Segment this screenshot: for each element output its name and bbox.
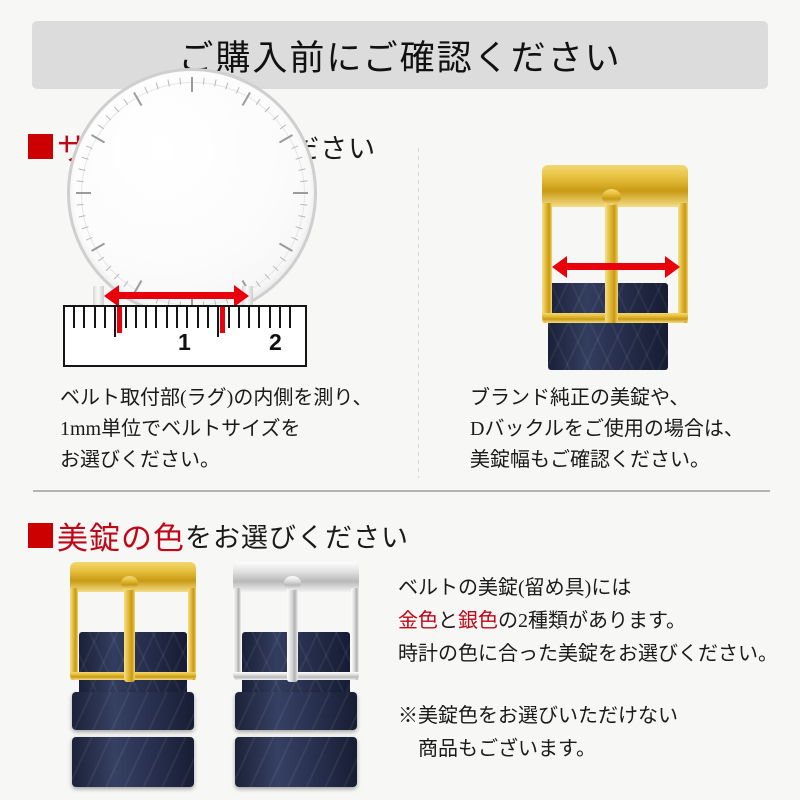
ruler-tick xyxy=(166,307,168,328)
ruler-tick xyxy=(145,307,147,328)
arrow-shaft xyxy=(566,263,666,270)
arrow-head-left-icon xyxy=(104,285,119,307)
vertical-divider xyxy=(418,148,419,478)
arrow-head-right-icon xyxy=(665,256,680,278)
conjunction: と xyxy=(438,610,458,632)
ruler-tick xyxy=(83,307,85,328)
buckle-tongue xyxy=(124,580,135,682)
ruler-tick xyxy=(73,307,75,328)
strap-keeper-loop xyxy=(235,692,357,730)
strap-keeper-loop xyxy=(72,692,194,730)
ruler-tick xyxy=(155,307,157,328)
note-line-1: ※美錠色をお選びいただけない xyxy=(398,700,678,733)
gold-buckle-width-figure xyxy=(490,165,740,370)
caption-line: お選びください。 xyxy=(60,445,373,476)
ruler-tick xyxy=(289,307,291,328)
body-line-2: 金色と銀色の2種類があります。 xyxy=(398,605,778,638)
ruler-tick xyxy=(217,307,219,337)
dial-tick xyxy=(76,192,91,194)
ruler-tick xyxy=(269,307,271,328)
caption-line: ブランド純正の美錠や、 xyxy=(470,383,744,414)
buckle-tongue-pivot xyxy=(284,576,301,590)
watch-dial xyxy=(67,68,317,318)
ruler-tick xyxy=(125,307,127,328)
ruler-tick xyxy=(248,307,250,328)
gold-buckle-strap-figure xyxy=(62,562,212,787)
strap-tail xyxy=(72,737,194,787)
buckle-arm-left xyxy=(542,203,552,323)
dial-tick xyxy=(191,77,193,92)
caption-line: ベルト取付部(ラグ)の内側を測り、 xyxy=(60,383,373,414)
section-heading-color-keyword: 美錠の色 xyxy=(57,513,185,558)
body-line-3: 時計の色に合った美錠をお選びください。 xyxy=(398,638,778,671)
dial-tick xyxy=(293,192,308,194)
ruler-tick xyxy=(135,307,137,328)
strap-tail xyxy=(235,737,357,787)
square-bullet-icon xyxy=(28,523,53,548)
buckle-tongue xyxy=(605,193,618,323)
ruler-number-2: 2 xyxy=(269,329,282,356)
watch-case-illustration xyxy=(67,68,317,318)
note-line-2: 商品もございます。 xyxy=(398,733,678,766)
body-line-2-tail: の2種類があります。 xyxy=(498,610,686,632)
buckle-color-body-text: ベルトの美錠(留め具)には 金色と銀色の2種類があります。 時計の色に合った美錠… xyxy=(398,572,778,671)
horizontal-divider xyxy=(33,490,770,492)
ruler-tick xyxy=(186,307,188,328)
ruler-tick xyxy=(228,307,230,328)
ruler-tick xyxy=(238,307,240,328)
ruler-tick xyxy=(94,307,96,328)
ruler-tick xyxy=(197,307,199,328)
buckle-arm-right xyxy=(188,588,196,680)
ruler-tick xyxy=(114,307,116,337)
caption-line: Dバックルをご使用の場合は、 xyxy=(470,414,744,445)
buckle-arm-left xyxy=(233,588,241,680)
buckle-tongue-pivot xyxy=(121,576,138,590)
dial-tick xyxy=(167,79,169,86)
buckle-arm-right xyxy=(351,588,359,680)
caption-line: 美錠幅もご確認ください。 xyxy=(470,445,744,476)
buckle-color-note: ※美錠色をお選びいただけない 商品もございます。 xyxy=(398,700,678,766)
ruler-marker-start xyxy=(117,307,122,333)
buckle-arm-left xyxy=(70,588,78,680)
dial-tick xyxy=(78,168,85,170)
dial-tick xyxy=(77,180,84,182)
ruler-number-1: 1 xyxy=(178,329,191,356)
arrow-head-right-icon xyxy=(234,285,249,307)
ruler-marker-end xyxy=(220,307,225,333)
ruler-tick xyxy=(176,307,178,328)
ruler: 1 2 xyxy=(63,305,307,367)
size-caption-right: ブランド純正の美錠や、 Dバックルをご使用の場合は、 美錠幅もご確認ください。 xyxy=(470,383,744,476)
section-heading-buckle-color: 美錠の色 をお選びください xyxy=(28,513,409,558)
ruler-tick xyxy=(279,307,281,328)
arrow-shaft xyxy=(118,292,235,299)
silver-label: 銀色 xyxy=(458,610,498,632)
watch-lug-measurement-figure: 1 2 xyxy=(40,160,390,370)
body-line-1: ベルトの美錠(留め具)には xyxy=(398,572,778,605)
gold-label: 金色 xyxy=(398,610,438,632)
watch-dial-inner-ring xyxy=(81,82,305,306)
caption-line: 1mm単位でベルトサイズを xyxy=(60,414,373,445)
buckle-tongue-pivot xyxy=(602,189,621,205)
silver-buckle-strap-figure xyxy=(225,562,375,787)
arrow-head-left-icon xyxy=(552,256,567,278)
buckle-tongue xyxy=(287,580,298,682)
ruler-tick xyxy=(104,307,106,328)
dial-tick xyxy=(179,78,181,85)
size-caption-left: ベルト取付部(ラグ)の内側を測り、 1mm単位でベルトサイズを お選びください。 xyxy=(60,383,373,476)
section-heading-color-suffix: をお選びください xyxy=(185,516,409,555)
ruler-tick xyxy=(258,307,260,328)
square-bullet-icon xyxy=(28,134,53,159)
ruler-tick xyxy=(207,307,209,328)
